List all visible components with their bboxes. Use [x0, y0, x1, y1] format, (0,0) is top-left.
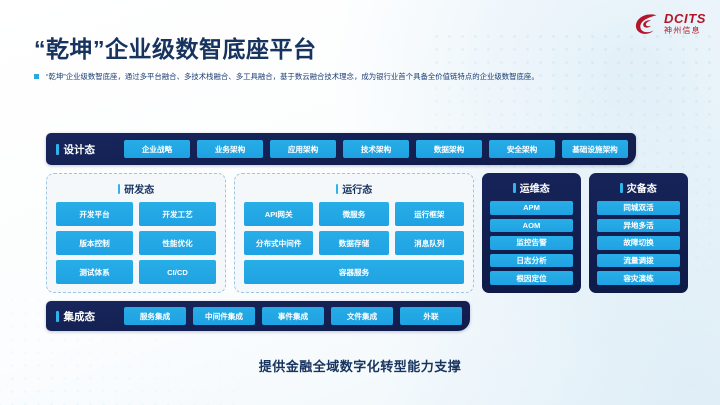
integration-state-chips: 服务集成 中间件集成 事件集成 文件集成 外联 — [124, 307, 462, 325]
accent-tick-icon — [513, 183, 516, 193]
design-chip[interactable]: 数据架构 — [416, 140, 482, 158]
run-cell[interactable]: 分布式中间件 — [244, 231, 313, 255]
dcits-swirl-icon — [635, 13, 659, 35]
ops-state-panel: 运维态 APM AOM 监控告警 日志分析 根因定位 — [482, 173, 581, 293]
dev-grid-row: 测试体系 CI/CD — [56, 260, 216, 284]
dr-cell[interactable]: 容灾演练 — [597, 271, 680, 285]
integration-chip[interactable]: 事件集成 — [262, 307, 324, 325]
design-chip[interactable]: 基础设施架构 — [562, 140, 628, 158]
footer-tagline: 提供金融全域数字化转型能力支撑 — [0, 356, 720, 375]
integration-chip[interactable]: 文件集成 — [331, 307, 393, 325]
integration-state-label: 集成态 — [64, 309, 96, 324]
dr-cell[interactable]: 流量调拨 — [597, 254, 680, 268]
dev-cell[interactable]: 测试体系 — [56, 260, 133, 284]
design-chip[interactable]: 企业战略 — [124, 140, 190, 158]
run-state-title: 运行态 — [342, 181, 372, 196]
ops-cell[interactable]: 监控告警 — [490, 236, 573, 250]
run-grid-row: API网关 微服务 运行框架 — [244, 202, 464, 226]
run-cell-wide[interactable]: 容器服务 — [244, 260, 464, 284]
run-cell[interactable]: 运行框架 — [395, 202, 464, 226]
dev-cell[interactable]: 开发工艺 — [139, 202, 216, 226]
ops-cell[interactable]: 根因定位 — [490, 271, 573, 285]
ops-cell[interactable]: AOM — [490, 219, 573, 233]
logo-text-en: DCITS — [664, 12, 706, 25]
disaster-recovery-panel: 灾备态 同城双活 异地多活 故障切换 流量调拨 容灾演练 — [589, 173, 688, 293]
ops-cell[interactable]: 日志分析 — [490, 254, 573, 268]
square-bullet-icon — [34, 74, 39, 79]
design-state-chips: 企业战略 业务架构 应用架构 技术架构 数据架构 安全架构 基础设施架构 — [124, 140, 628, 158]
design-state-label: 设计态 — [64, 142, 96, 157]
ops-cell[interactable]: APM — [490, 201, 573, 215]
dev-state-panel: 研发态 开发平台 开发工艺 版本控制 性能优化 测试体系 CI/CD — [46, 173, 226, 293]
run-cell[interactable]: API网关 — [244, 202, 313, 226]
ops-state-stack: APM AOM 监控告警 日志分析 根因定位 — [490, 201, 573, 285]
integration-chip[interactable]: 中间件集成 — [193, 307, 255, 325]
dr-cell[interactable]: 故障切换 — [597, 236, 680, 250]
dr-state-title: 灾备态 — [627, 180, 657, 195]
design-state-row: 设计态 企业战略 业务架构 应用架构 技术架构 数据架构 安全架构 基础设施架构 — [46, 133, 636, 165]
design-chip[interactable]: 业务架构 — [197, 140, 263, 158]
page-title: “乾坤”企业级数智底座平台 — [34, 30, 317, 64]
dev-cell[interactable]: 性能优化 — [139, 231, 216, 255]
run-grid-row: 容器服务 — [244, 260, 464, 284]
ops-state-title-group: 运维态 — [490, 180, 573, 195]
design-chip[interactable]: 应用架构 — [270, 140, 336, 158]
subtitle-line: “乾坤”企业级数智底座，通过多平台融合、多技术栈融合、多工具融合，基于数云融合技… — [34, 72, 539, 82]
slide-canvas: DCITS 神州信息 “乾坤”企业级数智底座平台 “乾坤”企业级数智底座，通过多… — [0, 0, 720, 405]
dev-grid-row: 版本控制 性能优化 — [56, 231, 216, 255]
accent-tick-icon — [336, 184, 339, 194]
subtitle-text: “乾坤”企业级数智底座，通过多平台融合、多技术栈融合、多工具融合，基于数云融合技… — [46, 72, 539, 82]
accent-tick-icon — [620, 183, 623, 193]
dr-cell[interactable]: 同城双活 — [597, 201, 680, 215]
run-cell[interactable]: 消息队列 — [395, 231, 464, 255]
middle-band: 研发态 开发平台 开发工艺 版本控制 性能优化 测试体系 CI/CD — [46, 173, 682, 293]
design-state-label-group: 设计态 — [56, 142, 118, 157]
integration-state-row: 集成态 服务集成 中间件集成 事件集成 文件集成 外联 — [46, 301, 470, 331]
design-chip[interactable]: 安全架构 — [489, 140, 555, 158]
design-chip[interactable]: 技术架构 — [343, 140, 409, 158]
ops-state-title: 运维态 — [520, 180, 550, 195]
run-state-panel: 运行态 API网关 微服务 运行框架 分布式中间件 数据存储 消息队列 容器服务 — [234, 173, 474, 293]
accent-tick-icon — [118, 184, 121, 194]
accent-tick-icon — [56, 144, 59, 155]
architecture-diagram: 设计态 企业战略 业务架构 应用架构 技术架构 数据架构 安全架构 基础设施架构… — [46, 133, 682, 338]
run-cell[interactable]: 微服务 — [319, 202, 388, 226]
run-state-title-group: 运行态 — [244, 181, 464, 196]
run-grid-row: 分布式中间件 数据存储 消息队列 — [244, 231, 464, 255]
dev-state-grid: 开发平台 开发工艺 版本控制 性能优化 测试体系 CI/CD — [56, 202, 216, 284]
brand-logo: DCITS 神州信息 — [635, 12, 706, 35]
dev-grid-row: 开发平台 开发工艺 — [56, 202, 216, 226]
dev-cell[interactable]: 开发平台 — [56, 202, 133, 226]
dev-cell[interactable]: CI/CD — [139, 260, 216, 284]
dev-cell[interactable]: 版本控制 — [56, 231, 133, 255]
accent-tick-icon — [56, 311, 59, 322]
dr-cell[interactable]: 异地多活 — [597, 219, 680, 233]
dr-state-stack: 同城双活 异地多活 故障切换 流量调拨 容灾演练 — [597, 201, 680, 285]
run-state-grid: API网关 微服务 运行框架 分布式中间件 数据存储 消息队列 容器服务 — [244, 202, 464, 284]
dr-state-title-group: 灾备态 — [597, 180, 680, 195]
logo-text-cn: 神州信息 — [664, 27, 706, 35]
integration-chip[interactable]: 服务集成 — [124, 307, 186, 325]
dev-state-title: 研发态 — [124, 181, 154, 196]
dev-state-title-group: 研发态 — [56, 181, 216, 196]
integration-state-label-group: 集成态 — [56, 309, 118, 324]
integration-chip[interactable]: 外联 — [400, 307, 462, 325]
run-cell[interactable]: 数据存储 — [319, 231, 388, 255]
